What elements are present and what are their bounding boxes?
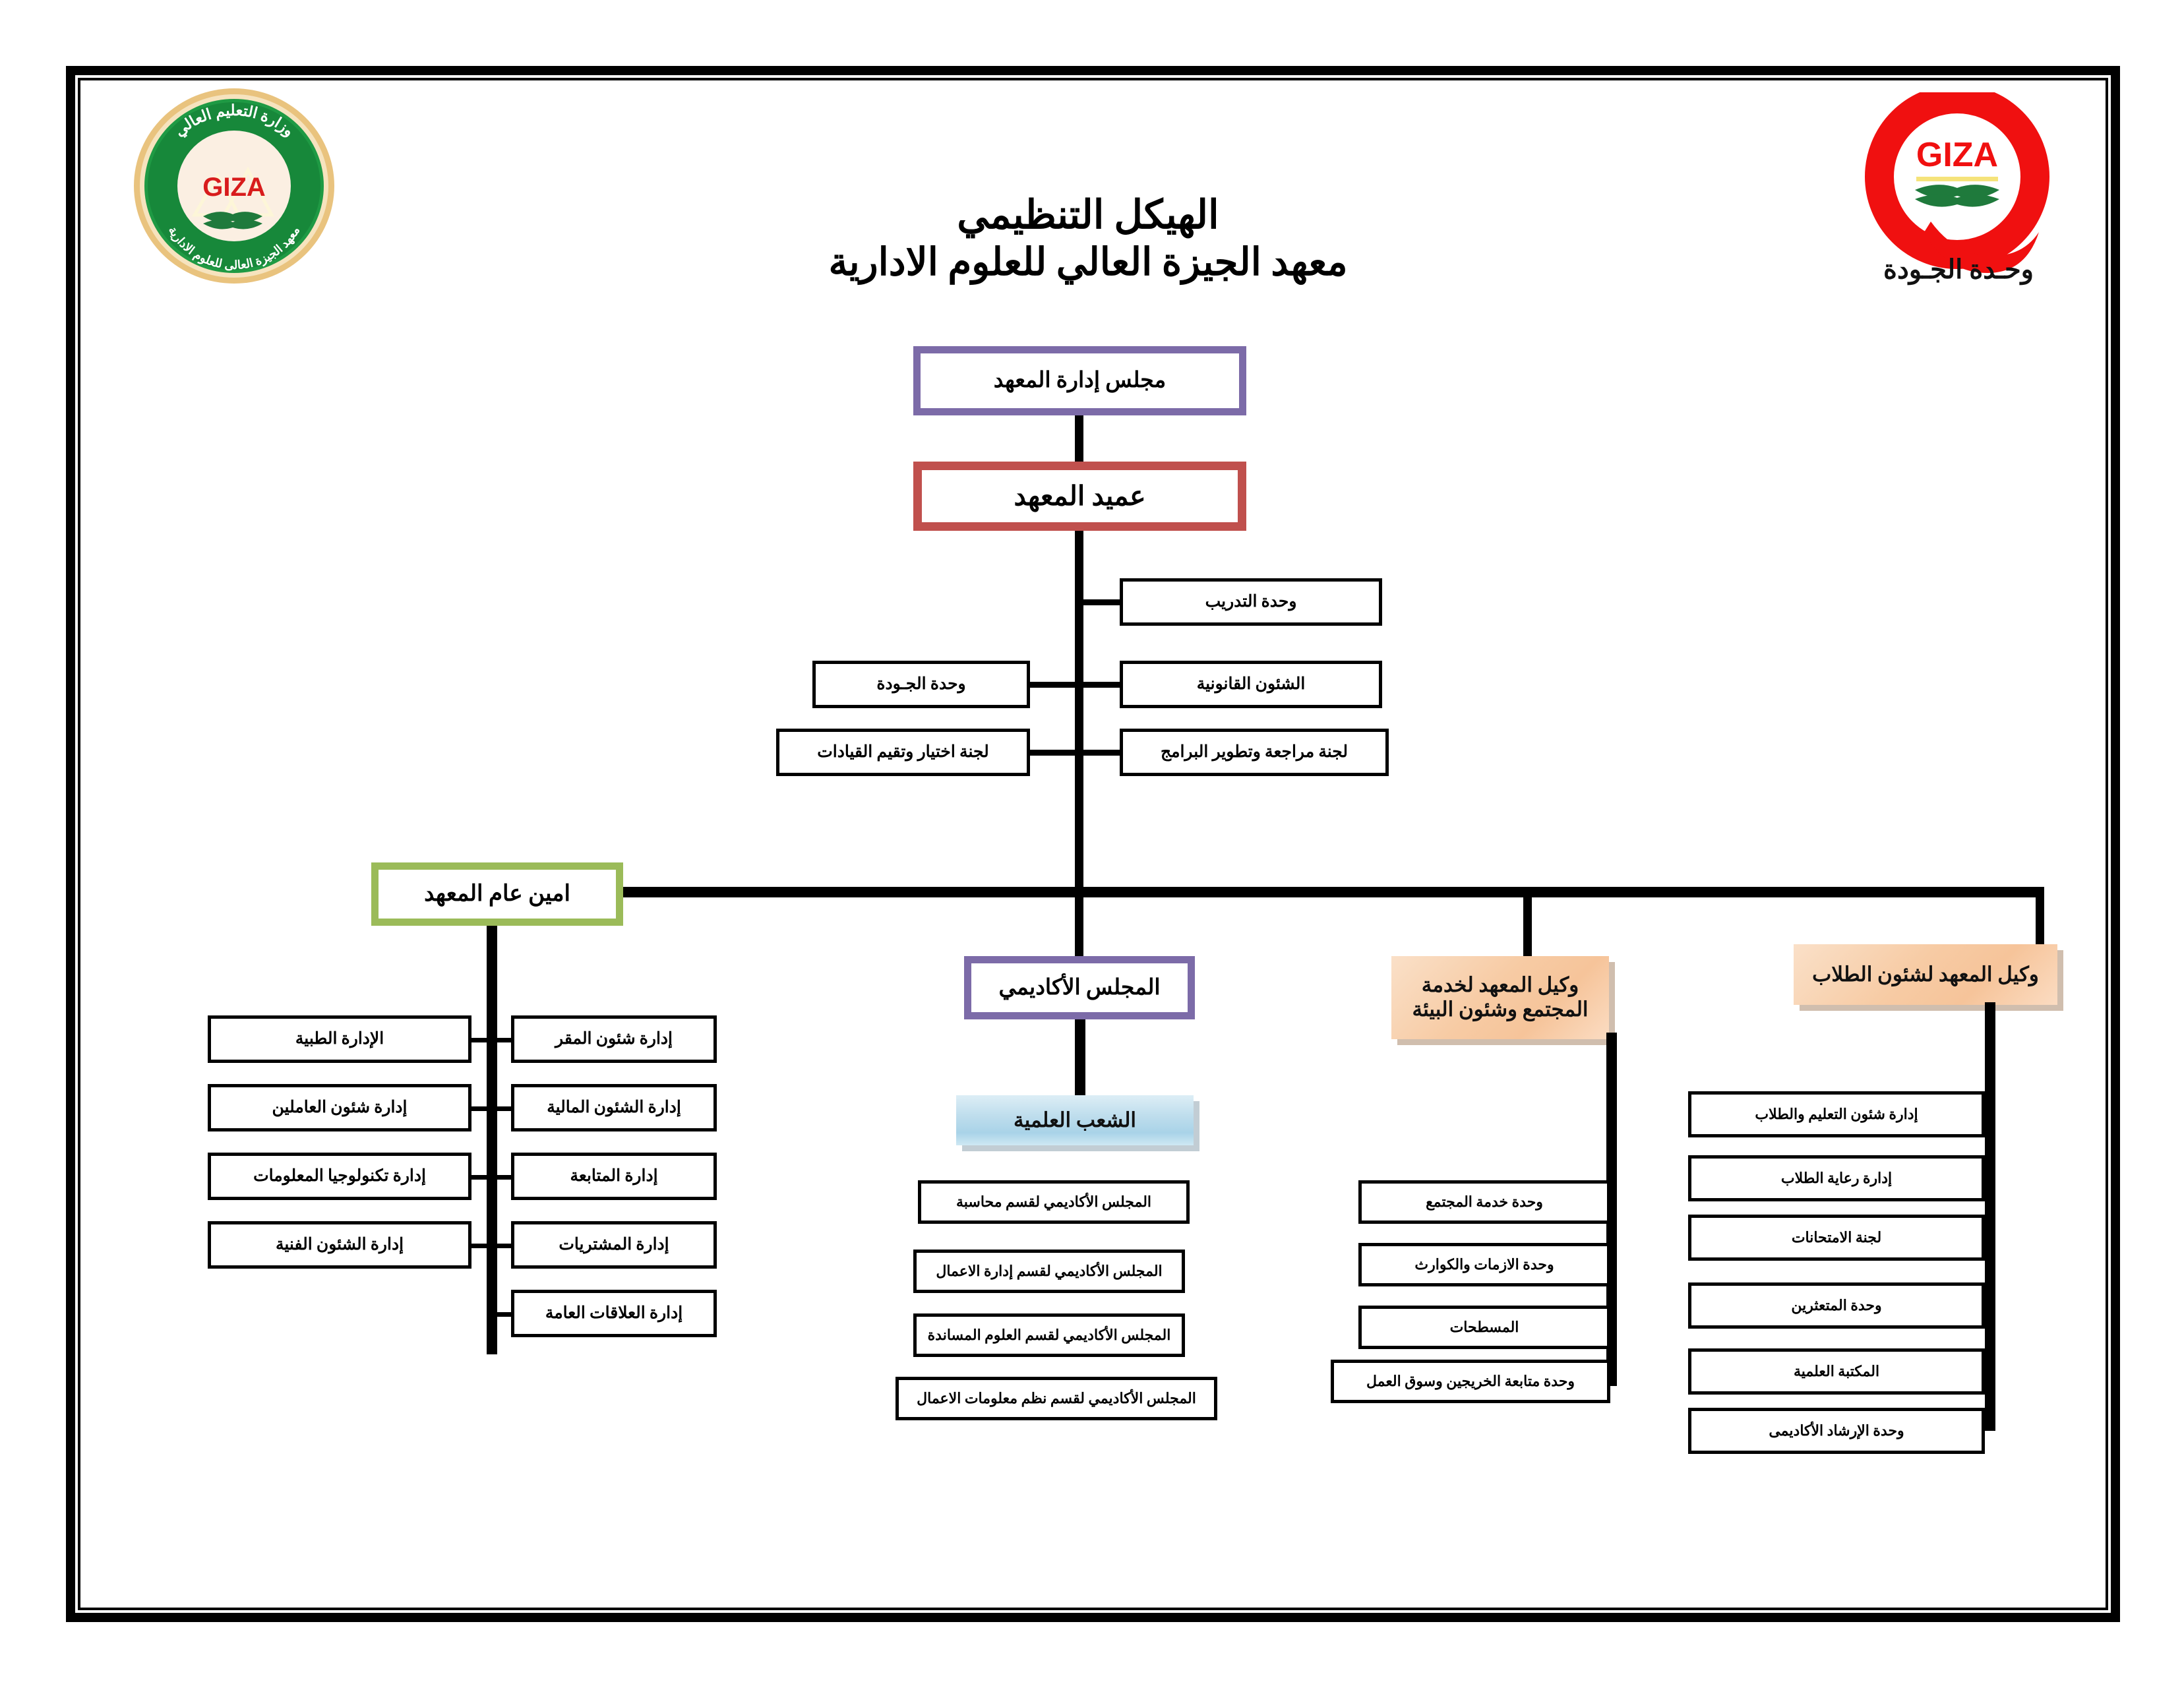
node-sec-left-2[interactable]: إدارة شئون العاملين <box>208 1084 471 1131</box>
connector-board-to-dean <box>1075 415 1083 465</box>
connector-secretary-stem <box>487 926 497 1354</box>
node-community-unit-2[interactable]: وحدة الازمات والكوارث <box>1358 1243 1610 1286</box>
node-student-unit-5[interactable]: المكتبة العلمية <box>1688 1348 1985 1395</box>
connector-dean-trunk <box>1075 527 1083 893</box>
connector-main-horizontal-bus <box>623 887 2044 897</box>
node-training-unit[interactable]: وحدة التدريب <box>1120 578 1382 626</box>
page-title: الهيكل التنظيمي معهد الجيزة العالي للعلو… <box>699 191 1477 286</box>
title-line-1: الهيكل التنظيمي <box>699 191 1477 239</box>
quality-unit-caption: وحـدة الجـودة <box>1833 254 2084 285</box>
connector-stub-sec-4 <box>471 1244 512 1248</box>
connector-students-stem <box>1985 1002 1995 1431</box>
connector-stub-programs <box>1083 750 1120 756</box>
node-sec-left-1[interactable]: الإدارة الطبية <box>208 1015 471 1063</box>
connector-stub-quality <box>1029 682 1076 688</box>
connector-drop-vice-community <box>1523 887 1532 959</box>
node-sec-left-4[interactable]: إدارة الشئون الفنية <box>208 1221 471 1269</box>
connector-drop-academic-council <box>1075 887 1083 959</box>
seal-center-text: GIZA <box>202 173 266 202</box>
title-line-2: معهد الجيزة العالي للعلوم الادارية <box>699 239 1477 286</box>
node-student-unit-4[interactable]: وحدة المتعثرين <box>1688 1282 1985 1329</box>
node-vice-dean-community[interactable]: وكيل المعهد لخدمة المجتمع وشئون البيئة <box>1391 956 1609 1039</box>
org-chart-canvas: GIZA وزارة التعليم العالي معهد الجيزة ال… <box>0 0 2184 1688</box>
node-programs-review-committee[interactable]: لجنة مراجعة وتطوير البرامج <box>1120 729 1389 776</box>
node-quality-unit[interactable]: وحدة الجـودة <box>812 661 1030 708</box>
node-legal-affairs[interactable]: الشئون القانونية <box>1120 661 1382 708</box>
node-sec-left-3[interactable]: إدارة تكنولوجيا المعلومات <box>208 1153 471 1200</box>
connector-stub-sec-3 <box>471 1175 512 1180</box>
node-community-unit-4[interactable]: وحدة متابعة الخريجين وسوق العمل <box>1331 1360 1610 1403</box>
node-community-unit-1[interactable]: وحدة خدمة المجتمع <box>1358 1180 1610 1224</box>
node-student-unit-3[interactable]: لجنة الامتحانات <box>1688 1215 1985 1261</box>
connector-academic-to-divisions <box>1075 1019 1085 1095</box>
connector-stub-training <box>1083 599 1120 605</box>
node-academic-dept-1[interactable]: المجلس الأكاديمي لقسم محاسبة <box>918 1180 1190 1224</box>
node-student-unit-2[interactable]: إدارة رعاية الطلاب <box>1688 1155 1985 1201</box>
node-vice-dean-students[interactable]: وكيل المعهد لشئون الطلاب <box>1794 944 2057 1005</box>
connector-stub-legal <box>1083 682 1120 688</box>
q-logo-inner-text: GIZA <box>1916 136 1998 174</box>
node-student-unit-6[interactable]: وحدة الإرشاد الأكاديمى <box>1688 1408 1985 1454</box>
node-sec-right-5[interactable]: إدارة العلاقات العامة <box>511 1290 717 1337</box>
node-student-unit-1[interactable]: إدارة شئون التعليم والطلاب <box>1688 1091 1985 1137</box>
connector-stub-sec-1 <box>471 1038 512 1042</box>
ministry-institute-seal-logo: GIZA وزارة التعليم العالي معهد الجيزة ال… <box>125 86 343 287</box>
node-academic-dept-4[interactable]: المجلس الأكاديمي لقسم نظم معلومات الاعما… <box>895 1377 1217 1420</box>
node-academic-council[interactable]: المجلس الأكاديمي <box>964 956 1195 1019</box>
node-scientific-divisions[interactable]: الشعب العلمية <box>956 1095 1194 1145</box>
node-sec-right-2[interactable]: إدارة الشئون المالية <box>511 1084 717 1131</box>
node-sec-right-4[interactable]: إدارة المشتريات <box>511 1221 717 1269</box>
node-leadership-selection-committee[interactable]: لجنة اختيار وتقيم القيادات <box>776 729 1030 776</box>
node-community-unit-3[interactable]: المسطحات <box>1358 1306 1610 1349</box>
node-dean[interactable]: عميد المعهد <box>913 462 1246 531</box>
node-sec-right-1[interactable]: إدارة شئون المقر <box>511 1015 717 1063</box>
node-academic-dept-3[interactable]: المجلس الأكاديمي لقسم العلوم المساندة <box>913 1313 1185 1357</box>
node-secretary-general[interactable]: امين عام المعهد <box>371 862 623 926</box>
node-sec-right-3[interactable]: إدارة المتابعة <box>511 1153 717 1200</box>
connector-stub-sec-2 <box>471 1106 512 1111</box>
node-board-of-directors[interactable]: مجلس إدارة المعهد <box>913 346 1246 415</box>
connector-stub-leadership <box>1029 750 1076 756</box>
node-academic-dept-2[interactable]: المجلس الأكاديمي لقسم إدارة الاعمال <box>913 1250 1185 1293</box>
